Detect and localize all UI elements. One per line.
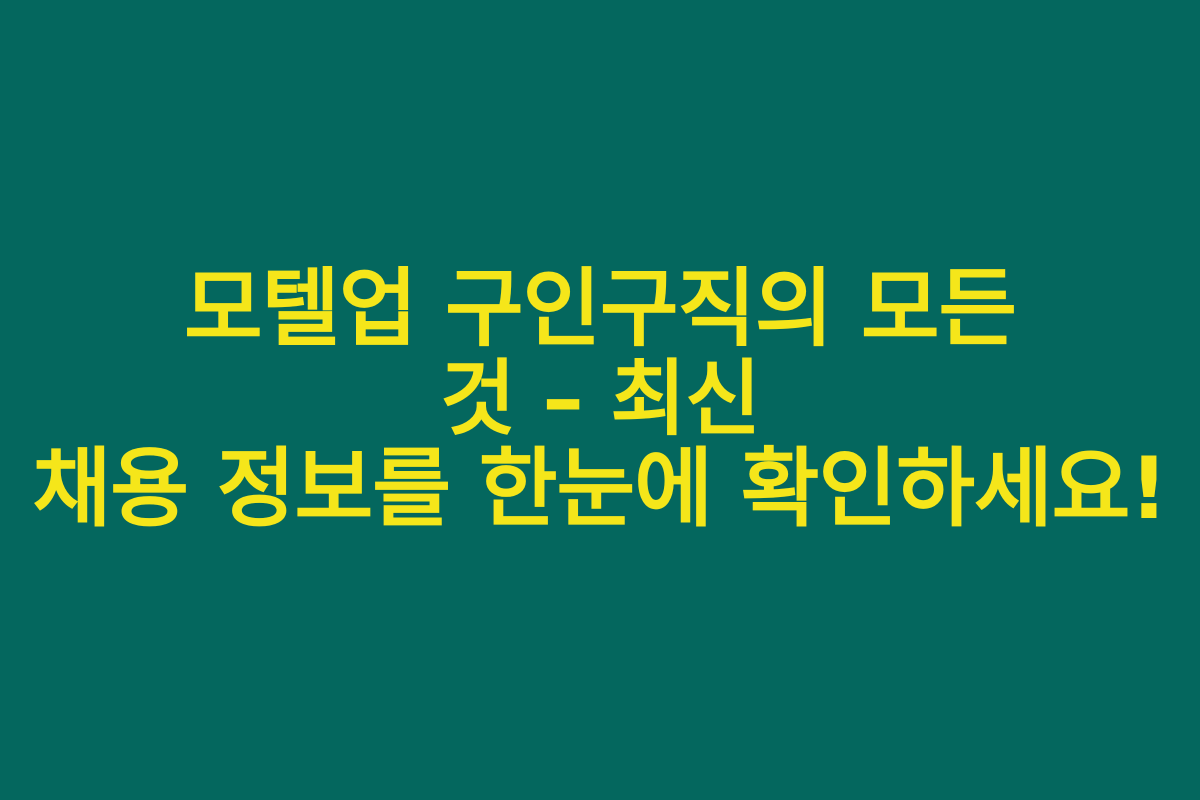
page-title: 모텔업 구인구직의 모든 것 – 최신 채용 정보를 한눈에 확인하세요! (0, 264, 1200, 535)
title-line-3: 채용 정보를 한눈에 확인하세요! (33, 444, 1168, 536)
title-line-1: 모텔업 구인구직의 모든 (184, 264, 1016, 355)
title-banner: 모텔업 구인구직의 모든 것 – 최신 채용 정보를 한눈에 확인하세요! (0, 0, 1200, 800)
title-line-2: 것 – 최신 (440, 356, 760, 444)
